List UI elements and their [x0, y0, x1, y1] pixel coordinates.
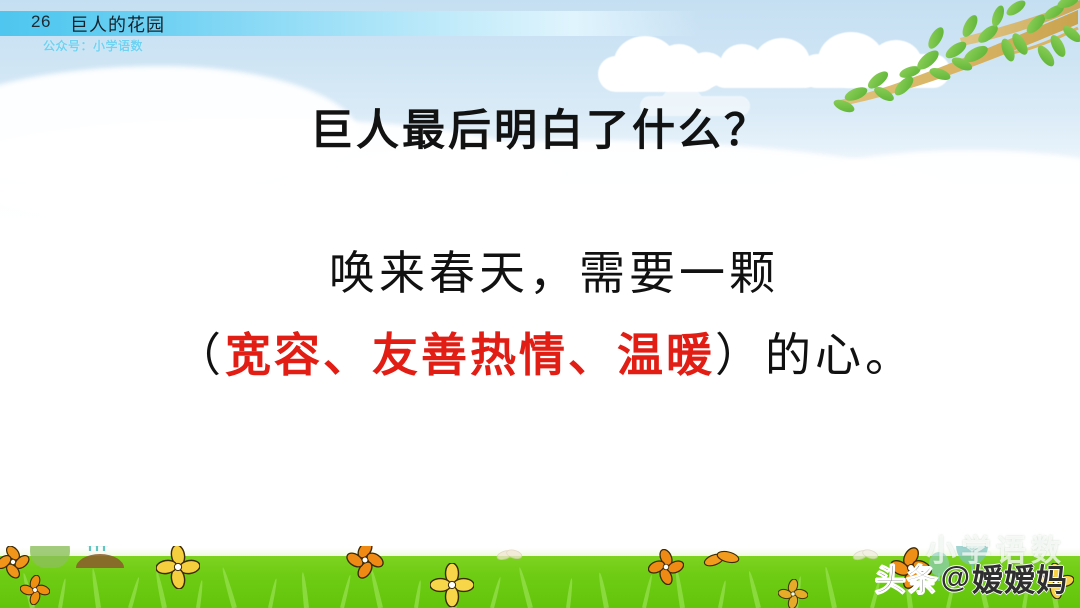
flower-icon-pale — [778, 579, 808, 608]
lesson-title: 巨人的花园 — [70, 11, 165, 37]
flower-icon — [648, 549, 684, 590]
lesson-number: 26 — [31, 12, 51, 32]
answer-tail: 的心。 — [765, 330, 915, 381]
open-paren: （ — [175, 330, 225, 381]
highlight-answer: 宽容、友善热情、温暖 — [225, 330, 715, 381]
flower-icon-pale — [494, 546, 524, 574]
close-paren: ） — [715, 330, 765, 381]
answer-line-2: （宽容、友善热情、温暖）的心。 — [0, 315, 1080, 397]
account-name: 嫒嫒妈 — [972, 555, 1068, 600]
channel-watermark: 头条 @ 嫒嫒妈 — [875, 555, 1068, 600]
page-title: 巨人最后明白了什么？ — [0, 96, 1080, 158]
flower-icon — [430, 563, 474, 608]
answer-line-1: 唤来春天，需要一颗 — [0, 233, 1080, 315]
flower-icon — [156, 546, 200, 594]
answer-block: 唤来春天，需要一颗 （宽容、友善热情、温暖）的心。 — [0, 233, 1080, 397]
flower-icon — [700, 546, 740, 578]
at-symbol: @ — [941, 561, 970, 595]
flower-icon — [346, 546, 384, 584]
platform-label: 头条 — [875, 555, 939, 600]
slide-canvas: 26 巨人的花园 公众号：小学语数 — [0, 0, 1080, 608]
flower-icon — [20, 575, 50, 608]
header-subtitle: 公众号：小学语数 — [43, 37, 143, 54]
fence-icon — [86, 546, 114, 558]
